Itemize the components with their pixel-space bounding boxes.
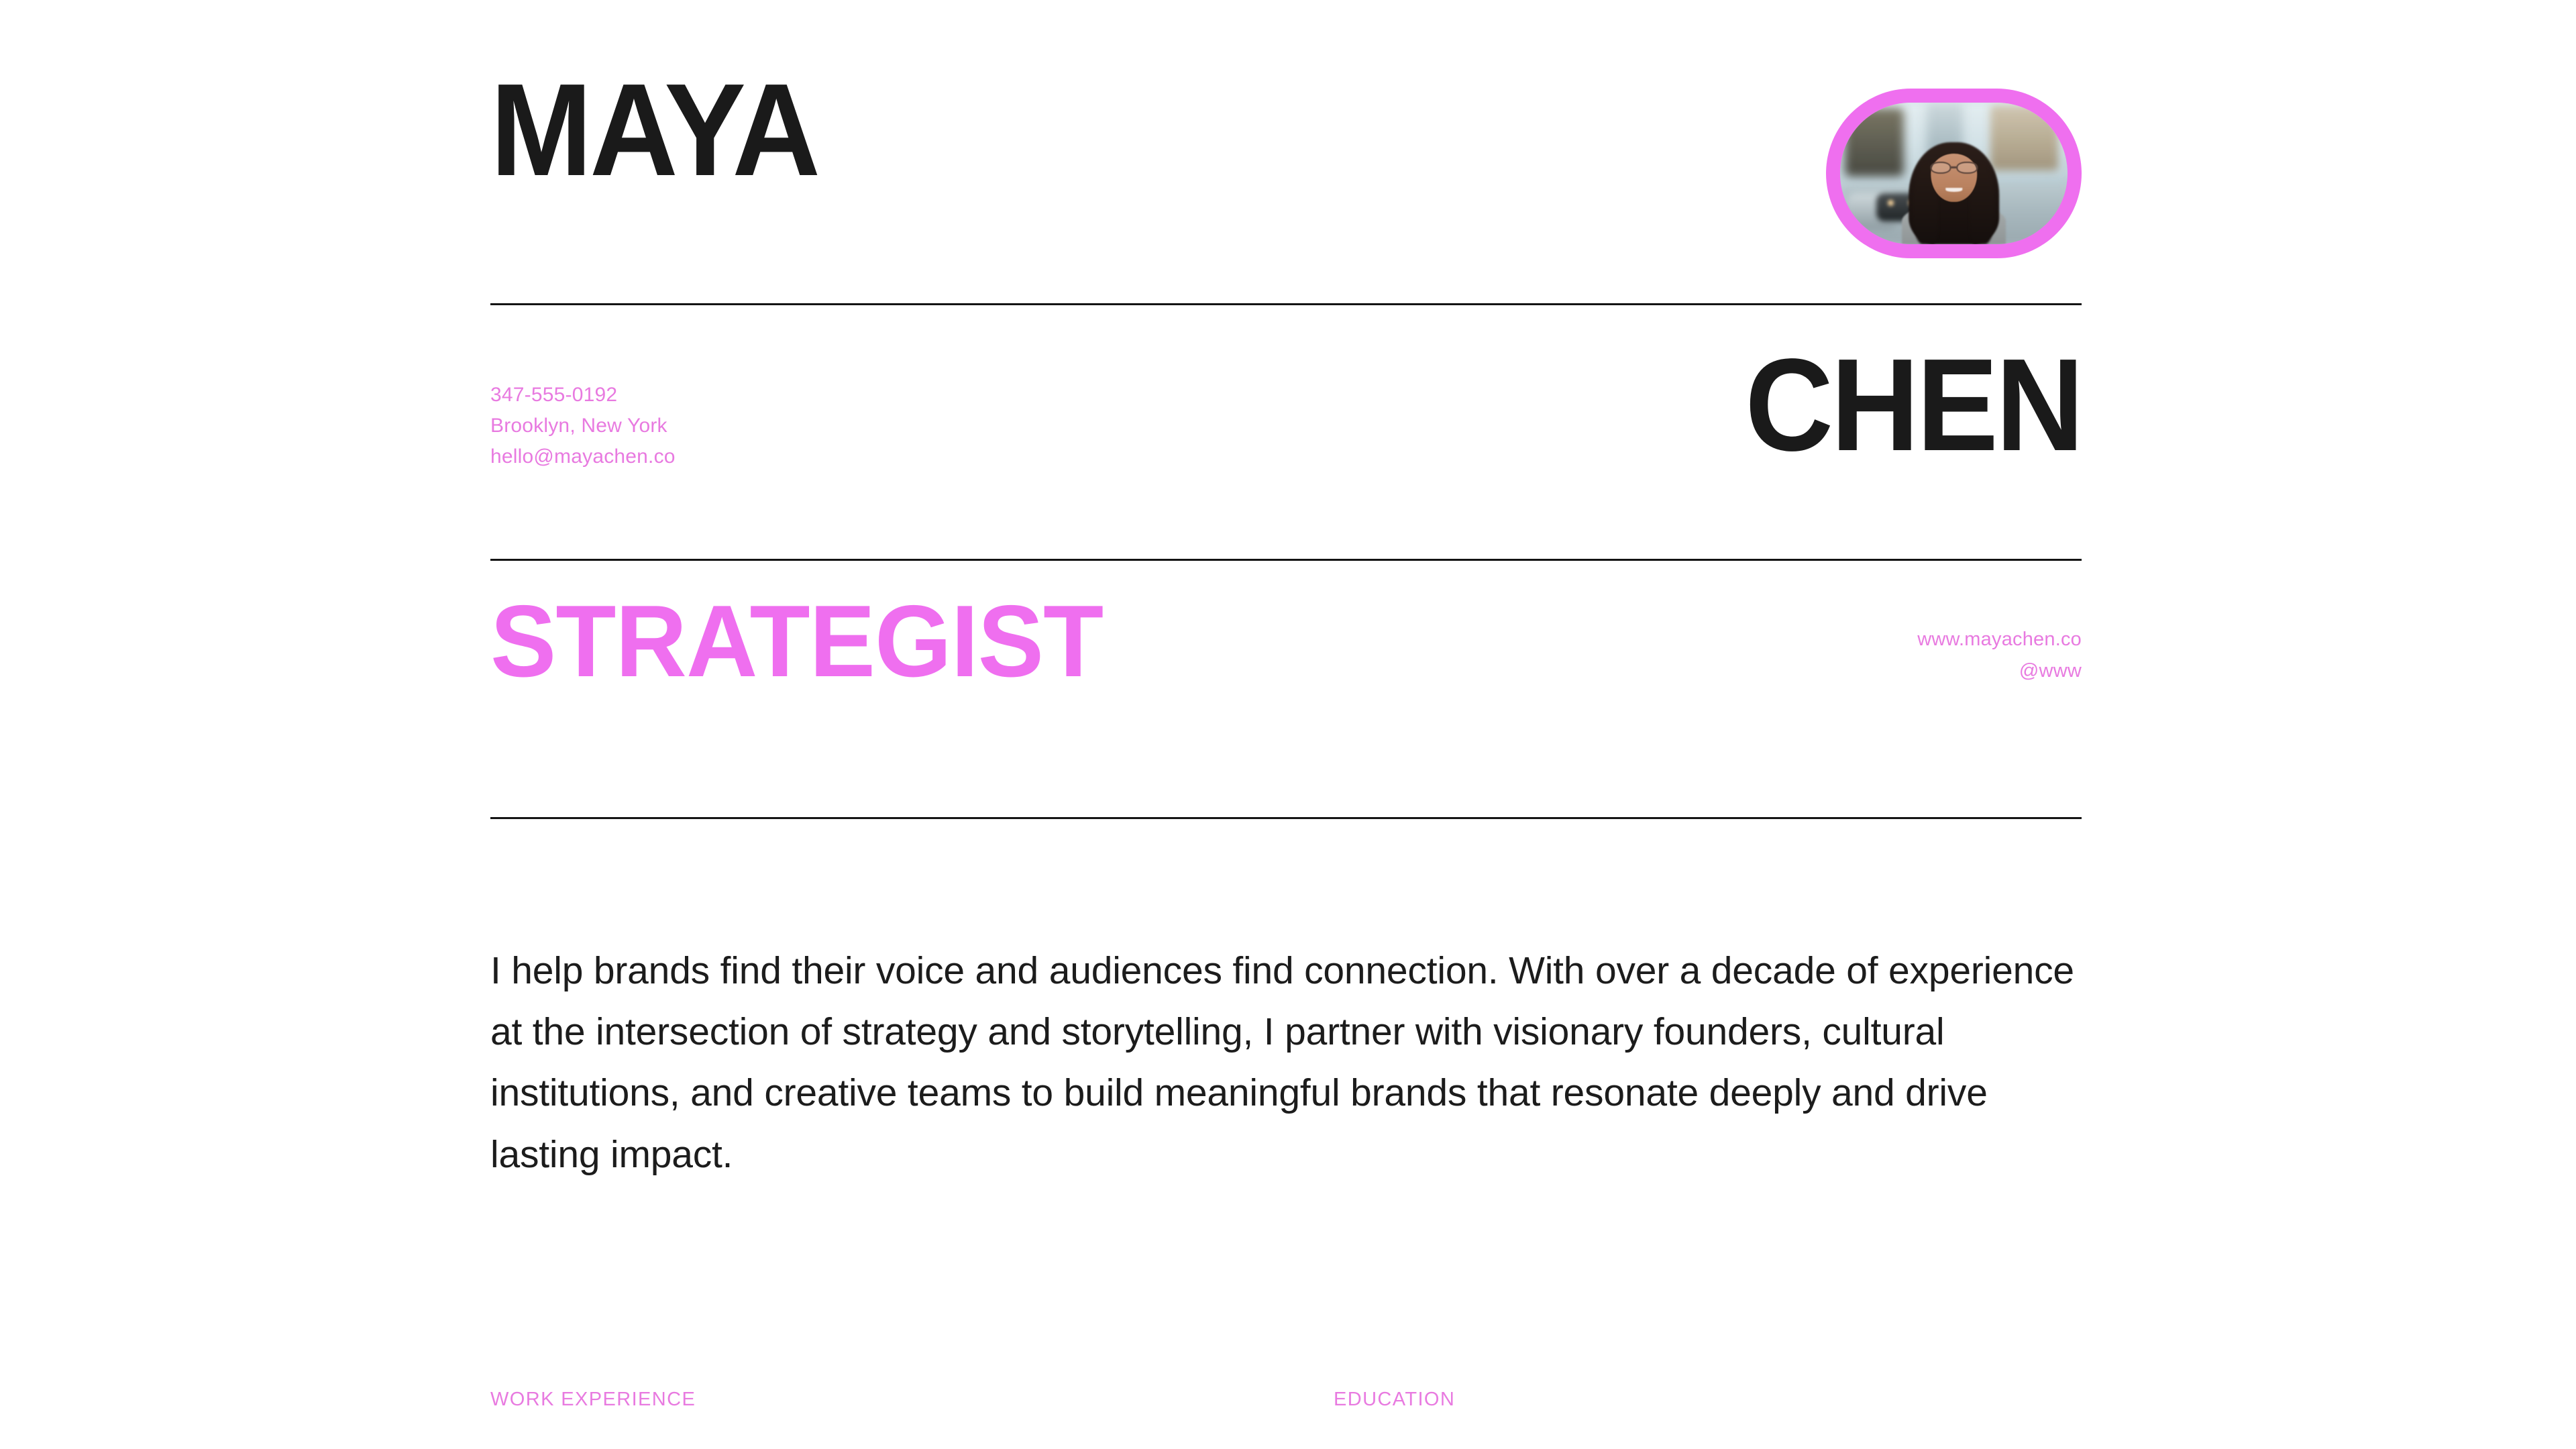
- section-label-work-experience: WORK EXPERIENCE: [490, 1389, 696, 1411]
- last-name-heading: CHEN: [602, 349, 2082, 462]
- bio-paragraph: I help brands find their voice and audie…: [490, 941, 2100, 1185]
- resume-page: MAYA 347-555-0192: [0, 0, 2576, 1449]
- glasses-lens-left: [1930, 162, 1951, 174]
- photo-building-right: [1990, 105, 2059, 170]
- role-row: STRATEGIST www.mayachen.co @www: [490, 593, 2082, 691]
- link-handle[interactable]: @www: [1917, 655, 2082, 687]
- links-block: www.mayachen.co @www: [1917, 593, 2082, 687]
- photo-tree-left: [1845, 108, 1904, 176]
- link-website[interactable]: www.mayachen.co: [1917, 624, 2082, 655]
- glasses-lens-right: [1957, 162, 1978, 174]
- name-row-second: CHEN: [490, 349, 2082, 462]
- avatar-photo: [1840, 103, 2068, 244]
- glasses-icon: [1930, 162, 1978, 174]
- section-label-education: EDUCATION: [1334, 1389, 1455, 1411]
- glasses-bridge: [1951, 166, 1957, 168]
- divider-rule-1: [490, 303, 2082, 305]
- divider-rule-3: [490, 817, 2082, 819]
- role-heading: STRATEGIST: [490, 593, 1103, 691]
- divider-rule-2: [490, 559, 2082, 561]
- first-name-heading: MAYA: [490, 74, 818, 187]
- avatar[interactable]: [1826, 89, 2082, 258]
